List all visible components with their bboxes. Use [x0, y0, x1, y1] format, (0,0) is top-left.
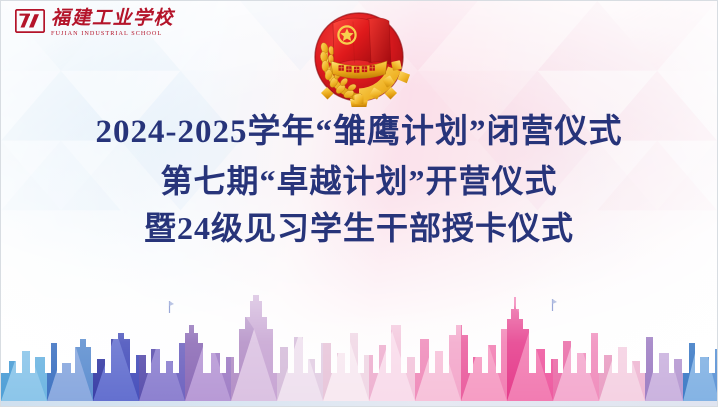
school-logo: 福建工业学校 FUJIAN INDUSTRIAL SCHOOL [15, 9, 174, 37]
poster-bottom-strip [1, 401, 717, 406]
school-name-en: FUJIAN INDUSTRIAL SCHOOL [51, 30, 174, 37]
low-poly-city-skyline [1, 295, 718, 401]
event-poster: 福建工业学校 FUJIAN INDUSTRIAL SCHOOL [0, 0, 718, 407]
title-line-1: 2024-2025学年“雏鹰计划”闭营仪式 [1, 111, 717, 155]
school-logo-wordmark: 福建工业学校 FUJIAN INDUSTRIAL SCHOOL [51, 9, 174, 37]
title-line-3: 暨24级见习学生干部授卡仪式 [1, 207, 717, 249]
school-name-cn: 福建工业学校 [51, 9, 174, 29]
communist-youth-league-emblem [305, 3, 413, 107]
title-line-2: 第七期“卓越计划”开营仪式 [1, 160, 717, 202]
poster-title-block: 2024-2025学年“雏鹰计划”闭营仪式 第七期“卓越计划”开营仪式 暨24级… [1, 111, 717, 249]
school-seal-icon [15, 9, 45, 33]
